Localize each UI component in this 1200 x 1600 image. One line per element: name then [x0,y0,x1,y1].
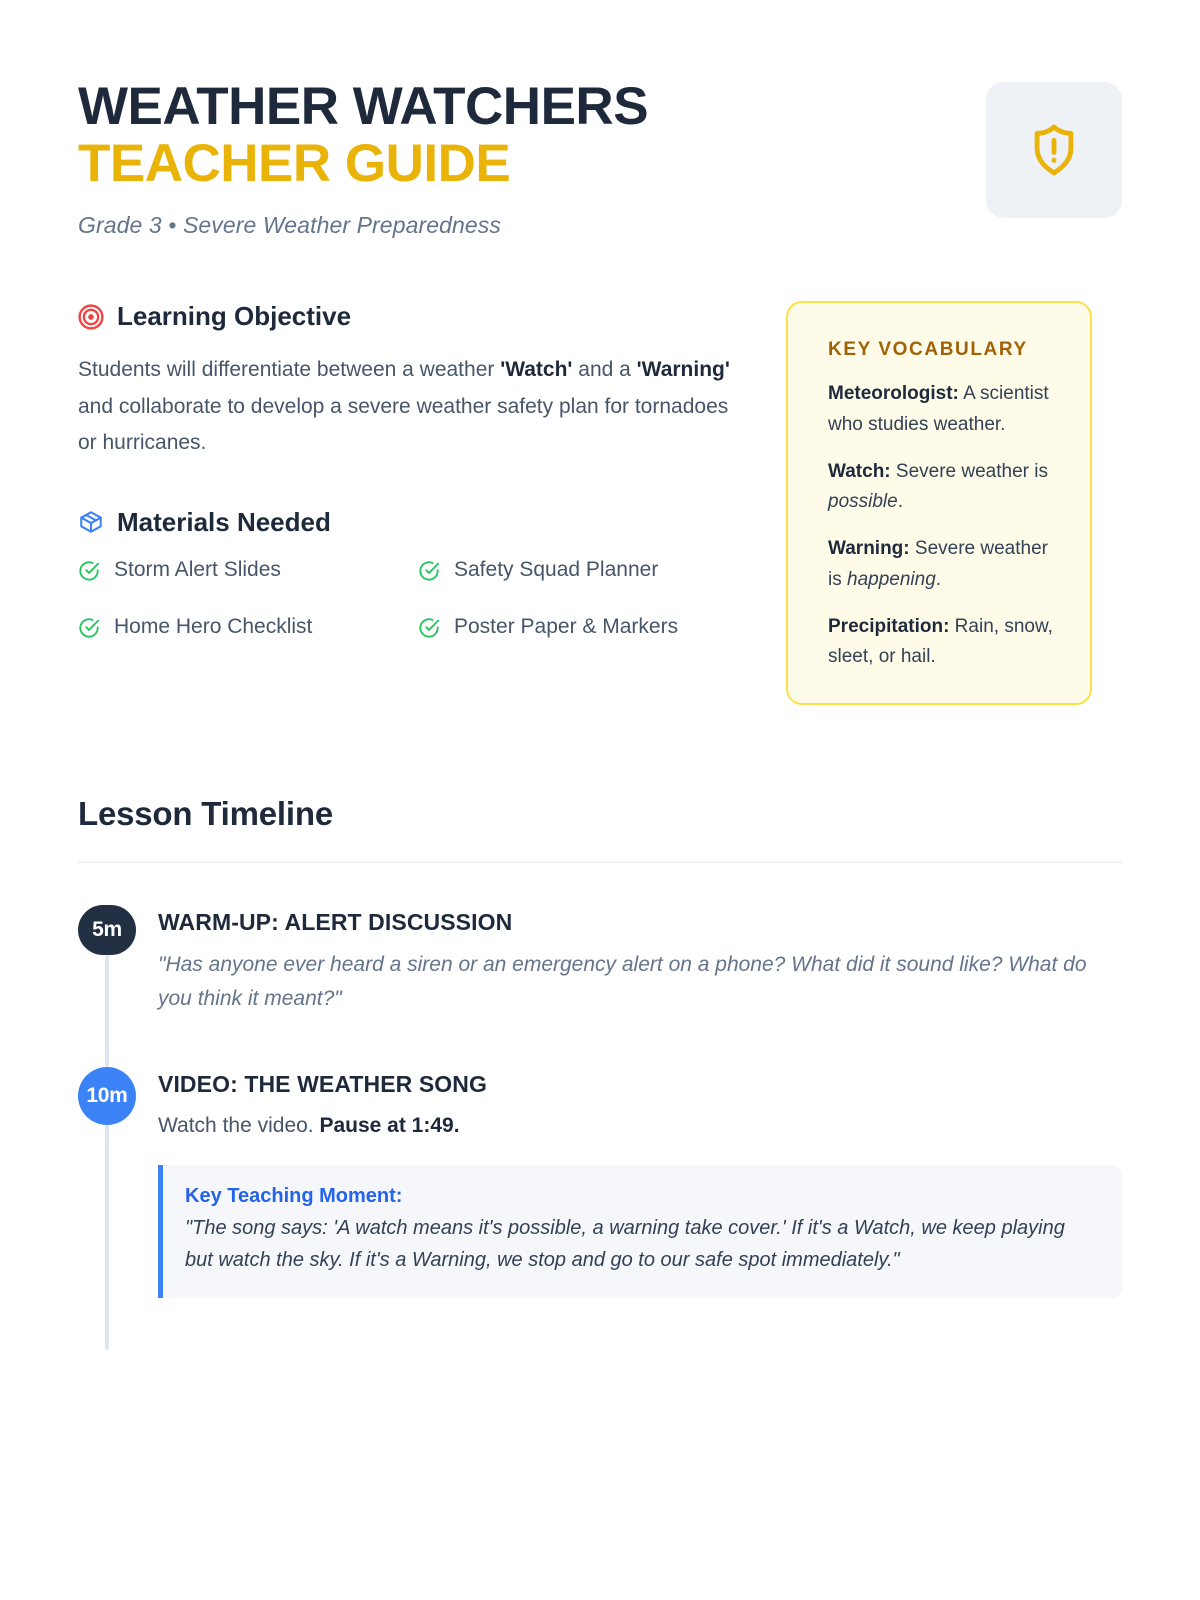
shield-alert-icon [1025,121,1083,179]
timeline-item-heading: VIDEO: THE WEATHER SONG [158,1071,1122,1098]
shield-alert-badge [986,82,1122,218]
check-circle-icon [78,560,100,582]
vocabulary-term: Warning: [828,538,910,559]
callout-label: Key Teaching Moment: [185,1185,1096,1208]
body-columns: Learning Objective Students will differe… [78,301,1122,705]
timeline-rail: 5m [78,905,136,1067]
materials-list: Storm Alert Slides Safety Squad Planner [78,556,738,642]
timeline-item-note: Watch the video. Pause at 1:49. [158,1110,1122,1143]
vocabulary-emphasis: possible [828,491,898,512]
material-item: Home Hero Checklist [78,613,378,642]
vocabulary-entry: Meteorologist: A scientist who studies w… [828,379,1064,441]
vocabulary-term: Watch: [828,461,891,482]
timeline-item-heading: WARM-UP: ALERT DISCUSSION [158,909,1122,936]
material-item-label: Storm Alert Slides [114,556,281,585]
learning-objective-header: Learning Objective [78,301,738,332]
vocabulary-definition: Severe weather is [891,461,1048,482]
vocabulary-entry: Warning: Severe weather is happening. [828,534,1064,596]
package-icon [78,509,104,535]
objective-part-4: and collaborate to develop a severe weat… [78,395,728,454]
vocabulary-entry: Watch: Severe weather is possible. [828,457,1064,519]
timeline-content: VIDEO: THE WEATHER SONG Watch the video.… [158,1067,1122,1350]
lesson-timeline-title: Lesson Timeline [78,795,1122,833]
timeline-item-quote: "Has anyone ever heard a siren or an eme… [158,948,1122,1015]
timeline-duration-badge: 5m [78,905,136,955]
key-vocabulary-title: KEY VOCABULARY [828,337,1064,363]
vocabulary-term: Precipitation: [828,616,949,637]
left-column: Learning Objective Students will differe… [78,301,738,641]
material-item: Safety Squad Planner [418,556,718,585]
header-text-block: WEATHER WATCHERS TEACHER GUIDE Grade 3 •… [78,70,648,239]
timeline-rail: 10m [78,1067,136,1350]
material-item-label: Safety Squad Planner [454,556,658,585]
page-title-secondary: TEACHER GUIDE [78,135,648,192]
vocabulary-term: Meteorologist: [828,383,959,404]
timeline-connector-line [105,951,109,1067]
materials-needed-header: Materials Needed [78,507,738,538]
learning-objective-title: Learning Objective [117,301,351,332]
check-circle-icon [418,617,440,639]
objective-part-3: 'Warning' [637,358,730,381]
vocabulary-suffix: . [898,491,903,512]
page-subtitle: Grade 3 • Severe Weather Preparedness [78,212,648,239]
teacher-guide-page: WEATHER WATCHERS TEACHER GUIDE Grade 3 •… [0,0,1200,1600]
timeline-content: WARM-UP: ALERT DISCUSSION "Has anyone ev… [158,905,1122,1067]
objective-part-0: Students will differentiate between a we… [78,358,500,381]
vocabulary-emphasis: happening [847,569,936,590]
page-title-primary: WEATHER WATCHERS [78,78,648,135]
learning-objective-text: Students will differentiate between a we… [78,352,738,460]
lesson-timeline: 5m WARM-UP: ALERT DISCUSSION "Has anyone… [78,905,1122,1350]
check-circle-icon [78,617,100,639]
callout-body: "The song says: 'A watch means it's poss… [185,1212,1096,1276]
objective-part-1: 'Watch' [500,358,572,381]
right-column: KEY VOCABULARY Meteorologist: A scientis… [786,301,1092,705]
timeline-note-text: Watch the video. [158,1114,319,1137]
materials-needed-title: Materials Needed [117,507,331,538]
key-teaching-moment-callout: Key Teaching Moment: "The song says: 'A … [158,1165,1122,1298]
timeline-note-emphasis: Pause at 1:49. [319,1114,459,1137]
target-icon [78,304,104,330]
objective-part-2: and a [572,358,636,381]
key-vocabulary-card: KEY VOCABULARY Meteorologist: A scientis… [786,301,1092,705]
page-header: WEATHER WATCHERS TEACHER GUIDE Grade 3 •… [78,70,1122,239]
check-circle-icon [418,560,440,582]
timeline-item: 5m WARM-UP: ALERT DISCUSSION "Has anyone… [78,905,1122,1067]
timeline-connector-line [105,1121,109,1350]
material-item: Poster Paper & Markers [418,613,718,642]
material-item: Storm Alert Slides [78,556,378,585]
vocabulary-entry: Precipitation: Rain, snow, sleet, or hai… [828,612,1064,674]
vocabulary-suffix: . [936,569,941,590]
timeline-duration-badge: 10m [78,1067,136,1125]
timeline-item: 10m VIDEO: THE WEATHER SONG Watch the vi… [78,1067,1122,1350]
material-item-label: Poster Paper & Markers [454,613,678,642]
material-item-label: Home Hero Checklist [114,613,312,642]
timeline-divider [78,861,1122,863]
